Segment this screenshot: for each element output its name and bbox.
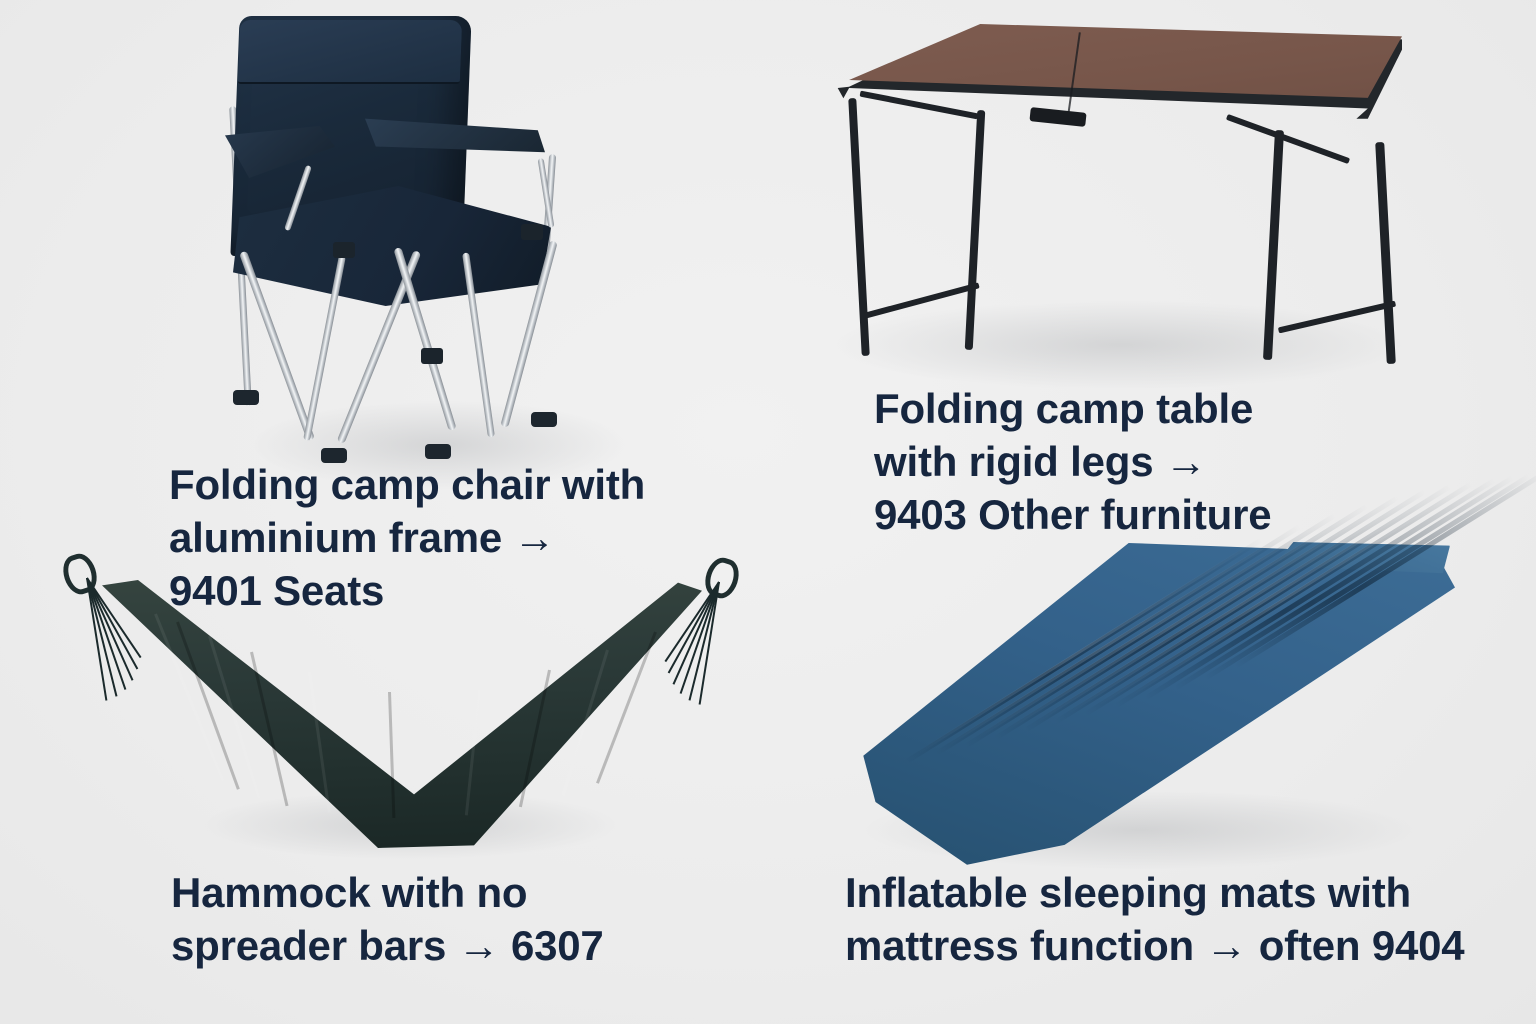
chair-headrest <box>238 20 462 84</box>
caption-hammock: Hammock with no spreader bars → 6307 <box>171 866 731 972</box>
table-top-surface <box>832 24 1402 136</box>
inflatable-sleeping-mat-photo <box>845 538 1455 868</box>
table-latch-handle <box>1029 107 1086 127</box>
folding-camp-table-photo <box>825 18 1425 368</box>
hammock-fabric <box>102 580 702 848</box>
caption-folding-camp-table: Folding camp table with rigid legs → 940… <box>874 382 1474 541</box>
diagram-canvas: Folding camp chair with aluminium frame … <box>0 0 1536 1024</box>
caption-inflatable-sleeping-mat: Inflatable sleeping mats with mattress f… <box>845 866 1525 972</box>
caption-folding-camp-chair: Folding camp chair with aluminium frame … <box>169 458 729 617</box>
folding-camp-chair-photo <box>225 8 645 463</box>
